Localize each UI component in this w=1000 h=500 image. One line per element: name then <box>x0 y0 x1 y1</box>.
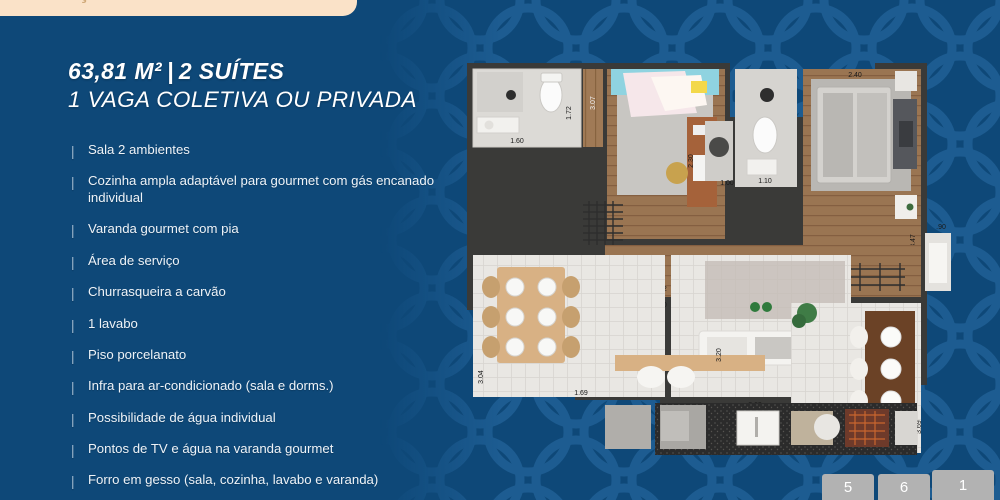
dimension-label: 3.07 <box>590 96 597 110</box>
feature-text: Forro em gesso (sala, cozinha, lavabo e … <box>88 472 378 487</box>
list-item: |Churrasqueira a carvão <box>68 284 458 301</box>
dimension-label: 1.00 <box>720 180 734 187</box>
list-item: |Possibilidade de água individual <box>68 410 458 427</box>
feature-text: Sala 2 ambientes <box>88 142 190 157</box>
feature-text: Pontos de TV e água na varanda gourmet <box>88 441 333 456</box>
area-value: 63,81 M² <box>68 58 162 84</box>
dimension-label: 2.30 <box>688 154 695 168</box>
page-tab-1[interactable]: 1 <box>932 470 994 500</box>
banner-text: LANÇAMENTO <box>30 0 195 5</box>
feature-text: Piso porcelanato <box>88 347 186 362</box>
bullet-pipe-icon: | <box>71 254 75 271</box>
feature-list: |Sala 2 ambientes |Cozinha ampla adaptáv… <box>68 142 458 490</box>
dimension-label: .90 <box>936 224 946 231</box>
bullet-pipe-icon: | <box>71 143 75 160</box>
bullet-pipe-icon: | <box>71 348 75 365</box>
list-item: |Forro em gesso (sala, cozinha, lavabo e… <box>68 472 458 489</box>
bullet-pipe-icon: | <box>71 473 75 490</box>
dimension-label: 1.72 <box>566 106 573 120</box>
list-item: |Pontos de TV e água na varanda gourmet <box>68 441 458 458</box>
feature-text: Área de serviço <box>88 253 180 268</box>
feature-text: Possibilidade de água individual <box>88 410 276 425</box>
list-item: |Sala 2 ambientes <box>68 142 458 159</box>
bullet-pipe-icon: | <box>71 442 75 459</box>
page-tab-6[interactable]: 6 <box>878 474 930 500</box>
title-separator: | <box>167 58 174 84</box>
bullet-pipe-icon: | <box>71 285 75 302</box>
dimension-label: 3.04 <box>478 370 485 384</box>
list-item: |Cozinha ampla adaptável para gourmet co… <box>68 173 458 207</box>
bullet-pipe-icon: | <box>71 411 75 428</box>
list-item: |Infra para ar-condicionado (sala e dorm… <box>68 378 458 395</box>
bullet-pipe-icon: | <box>71 174 75 191</box>
feature-text: Varanda gourmet com pia <box>88 221 239 236</box>
list-item: |Piso porcelanato <box>68 347 458 364</box>
top-banner: LANÇAMENTO <box>0 0 357 16</box>
dimension-label: 3.69 <box>916 420 923 434</box>
list-item: |Varanda gourmet com pia <box>68 221 458 238</box>
floorplan-image: 1.60 1.72 3.07 2.30 2.32 2.43 1.10 <box>455 55 955 475</box>
bullet-pipe-icon: | <box>71 317 75 334</box>
dimension-label: 3.20 <box>716 348 723 362</box>
bullet-pipe-icon: | <box>71 222 75 239</box>
feature-text: Infra para ar-condicionado (sala e dorms… <box>88 378 334 393</box>
dimension-label: 1.69 <box>574 390 588 397</box>
feature-text: 1 lavabo <box>88 316 138 331</box>
feature-text: Churrasqueira a carvão <box>88 284 226 299</box>
feature-text: Cozinha ampla adaptável para gourmet com… <box>88 173 434 205</box>
page-title: 63,81 M²|2 SUÍTES 1 VAGA COLETIVA OU PRI… <box>68 58 458 114</box>
list-item: |Área de serviço <box>68 253 458 270</box>
list-item: |1 lavabo <box>68 316 458 333</box>
suites-value: 2 SUÍTES <box>179 58 284 84</box>
dimension-label: 1.10 <box>758 178 772 185</box>
dimension-label: 2.40 <box>848 72 862 79</box>
page-tab-5[interactable]: 5 <box>822 474 874 500</box>
left-content-column: 63,81 M²|2 SUÍTES 1 VAGA COLETIVA OU PRI… <box>68 58 458 500</box>
parking-value: 1 VAGA COLETIVA OU PRIVADA <box>68 87 458 114</box>
pagination-tabs[interactable]: 5 6 1 <box>822 470 994 500</box>
dimension-label: 1.60 <box>510 138 524 145</box>
bullet-pipe-icon: | <box>71 379 75 396</box>
